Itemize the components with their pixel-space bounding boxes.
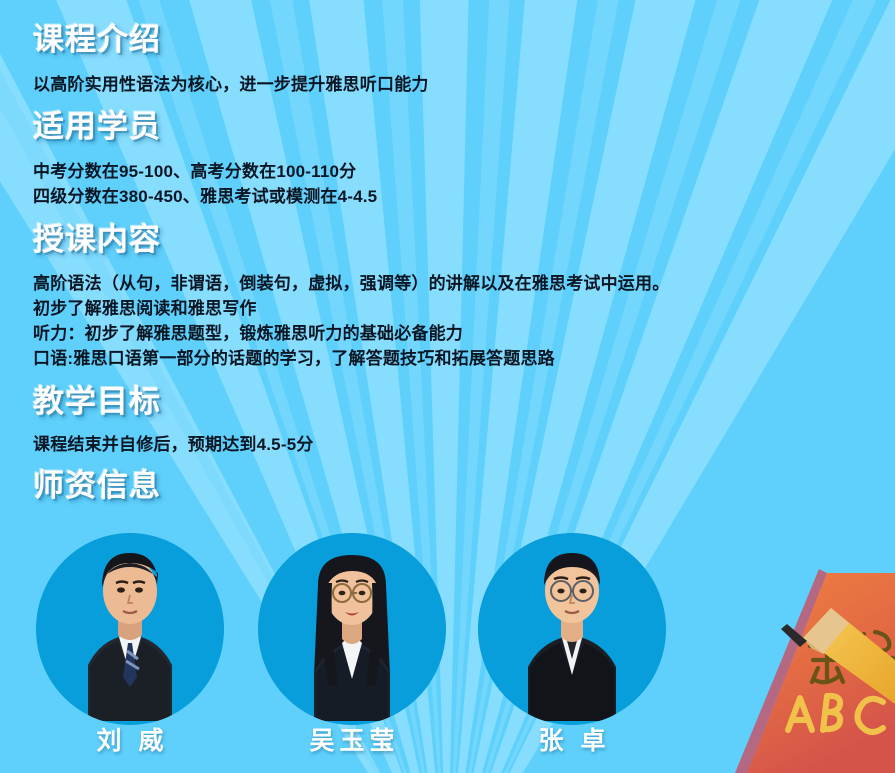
body-line: 中考分数在95-100、高考分数在100-110分 — [33, 159, 377, 184]
body-line: 课程结束并自修后，预期达到4.5-5分 — [33, 432, 314, 457]
portrait-image — [258, 525, 446, 721]
section-heading: 授课内容 — [33, 224, 161, 257]
body-line: 听力：初步了解雅思题型，锻炼雅思听力的基础必备能力 — [33, 321, 669, 346]
section-body: 课程结束并自修后，预期达到4.5-5分 — [33, 432, 314, 457]
body-line: 高阶语法（从句，非谓语，倒装句，虚拟，强调等）的讲解以及在雅思考试中运用。 — [33, 271, 669, 296]
section-teacher-info: 师资信息 — [33, 470, 161, 503]
body-line: 口语:雅思口语第一部分的话题的学习，了解答题技巧和拓展答题思路 — [33, 346, 669, 371]
section-body: 以高阶实用性语法为核心，进一步提升雅思听口能力 — [33, 72, 429, 97]
teacher-card[interactable]: 吴玉莹 — [258, 525, 446, 713]
portrait-image — [36, 525, 224, 721]
english-book-decoration — [635, 528, 895, 773]
section-teaching-goal-body: 课程结束并自修后，预期达到4.5-5分 — [33, 432, 314, 457]
section-heading: 适用学员 — [33, 111, 161, 144]
section-course-intro-body: 以高阶实用性语法为核心，进一步提升雅思听口能力 — [33, 72, 429, 97]
section-target-students-body: 中考分数在95-100、高考分数在100-110分 四级分数在380-450、雅… — [33, 159, 377, 209]
body-line: 以高阶实用性语法为核心，进一步提升雅思听口能力 — [33, 72, 429, 97]
teacher-photo — [258, 525, 446, 713]
teacher-name: 刘 威 — [36, 721, 224, 757]
teacher-photo — [36, 525, 224, 713]
section-teaching-content-body: 高阶语法（从句，非谓语，倒装句，虚拟，强调等）的讲解以及在雅思考试中运用。 初步… — [33, 271, 669, 371]
section-heading: 师资信息 — [33, 470, 161, 503]
teacher-card[interactable]: 刘 威 — [36, 525, 224, 713]
section-course-intro: 课程介绍 — [33, 24, 161, 57]
section-target-students: 适用学员 — [33, 111, 161, 144]
teacher-name: 吴玉莹 — [258, 721, 446, 757]
section-body: 中考分数在95-100、高考分数在100-110分 四级分数在380-450、雅… — [33, 159, 377, 209]
body-line: 四级分数在380-450、雅思考试或模测在4-4.5 — [33, 184, 377, 209]
teacher-list: 刘 威 — [0, 525, 720, 773]
section-teaching-goal: 教学目标 — [33, 386, 161, 419]
section-body: 高阶语法（从句，非谓语，倒装句，虚拟，强调等）的讲解以及在雅思考试中运用。 初步… — [33, 271, 669, 371]
body-line: 初步了解雅思阅读和雅思写作 — [33, 296, 669, 321]
section-heading: 课程介绍 — [33, 24, 161, 57]
course-intro-poster: 课程介绍 以高阶实用性语法为核心，进一步提升雅思听口能力 适用学员 中考分数在9… — [0, 0, 895, 773]
section-heading: 教学目标 — [33, 386, 161, 419]
section-teaching-content: 授课内容 — [33, 224, 161, 257]
